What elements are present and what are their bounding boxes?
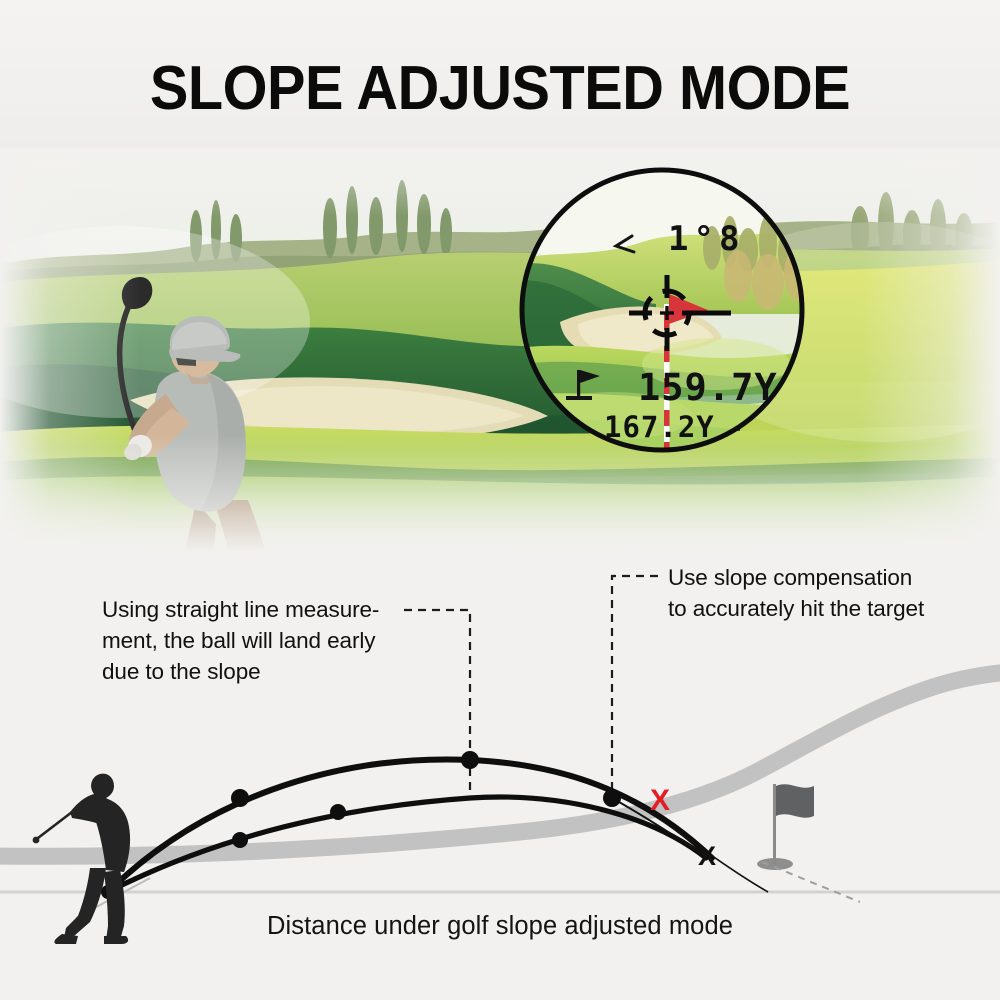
arc-slope-compensated [108,759,712,892]
product-infographic: SLOPE ADJUSTED MODE [0,0,1000,1000]
golf-course-photo [0,132,1000,552]
leader-line-right [612,576,658,798]
scope-primary-distance: 159.7Y [638,366,778,409]
trajectory-dot [330,804,346,820]
page-title: SLOPE ADJUSTED MODE [35,58,965,120]
rangefinder-viewfinder: 1°8 159.7Y 167.2Y [516,164,808,456]
scope-secondary-distance: 167.2Y [604,410,715,444]
scope-angle-value: 1°8 [668,219,744,259]
course-illustration [0,132,1000,552]
trajectory-dot [231,789,249,807]
hole-cup [648,453,688,456]
title-band: SLOPE ADJUSTED MODE [0,0,1000,148]
trajectory-dot [232,832,248,848]
annotation-straight-line: Using straight line measure- ment, the b… [102,594,432,687]
trajectory-dot [603,789,621,807]
miss-marker-red-x: X [650,784,670,817]
target-flag-icon [757,784,860,902]
diagram-caption: Distance under golf slope adjusted mode [0,912,1000,941]
annotation-slope-compensation: Use slope compensation to accurately hit… [668,562,968,624]
trajectory-dot [461,751,479,769]
miss-marker-black-x: X [698,841,716,871]
